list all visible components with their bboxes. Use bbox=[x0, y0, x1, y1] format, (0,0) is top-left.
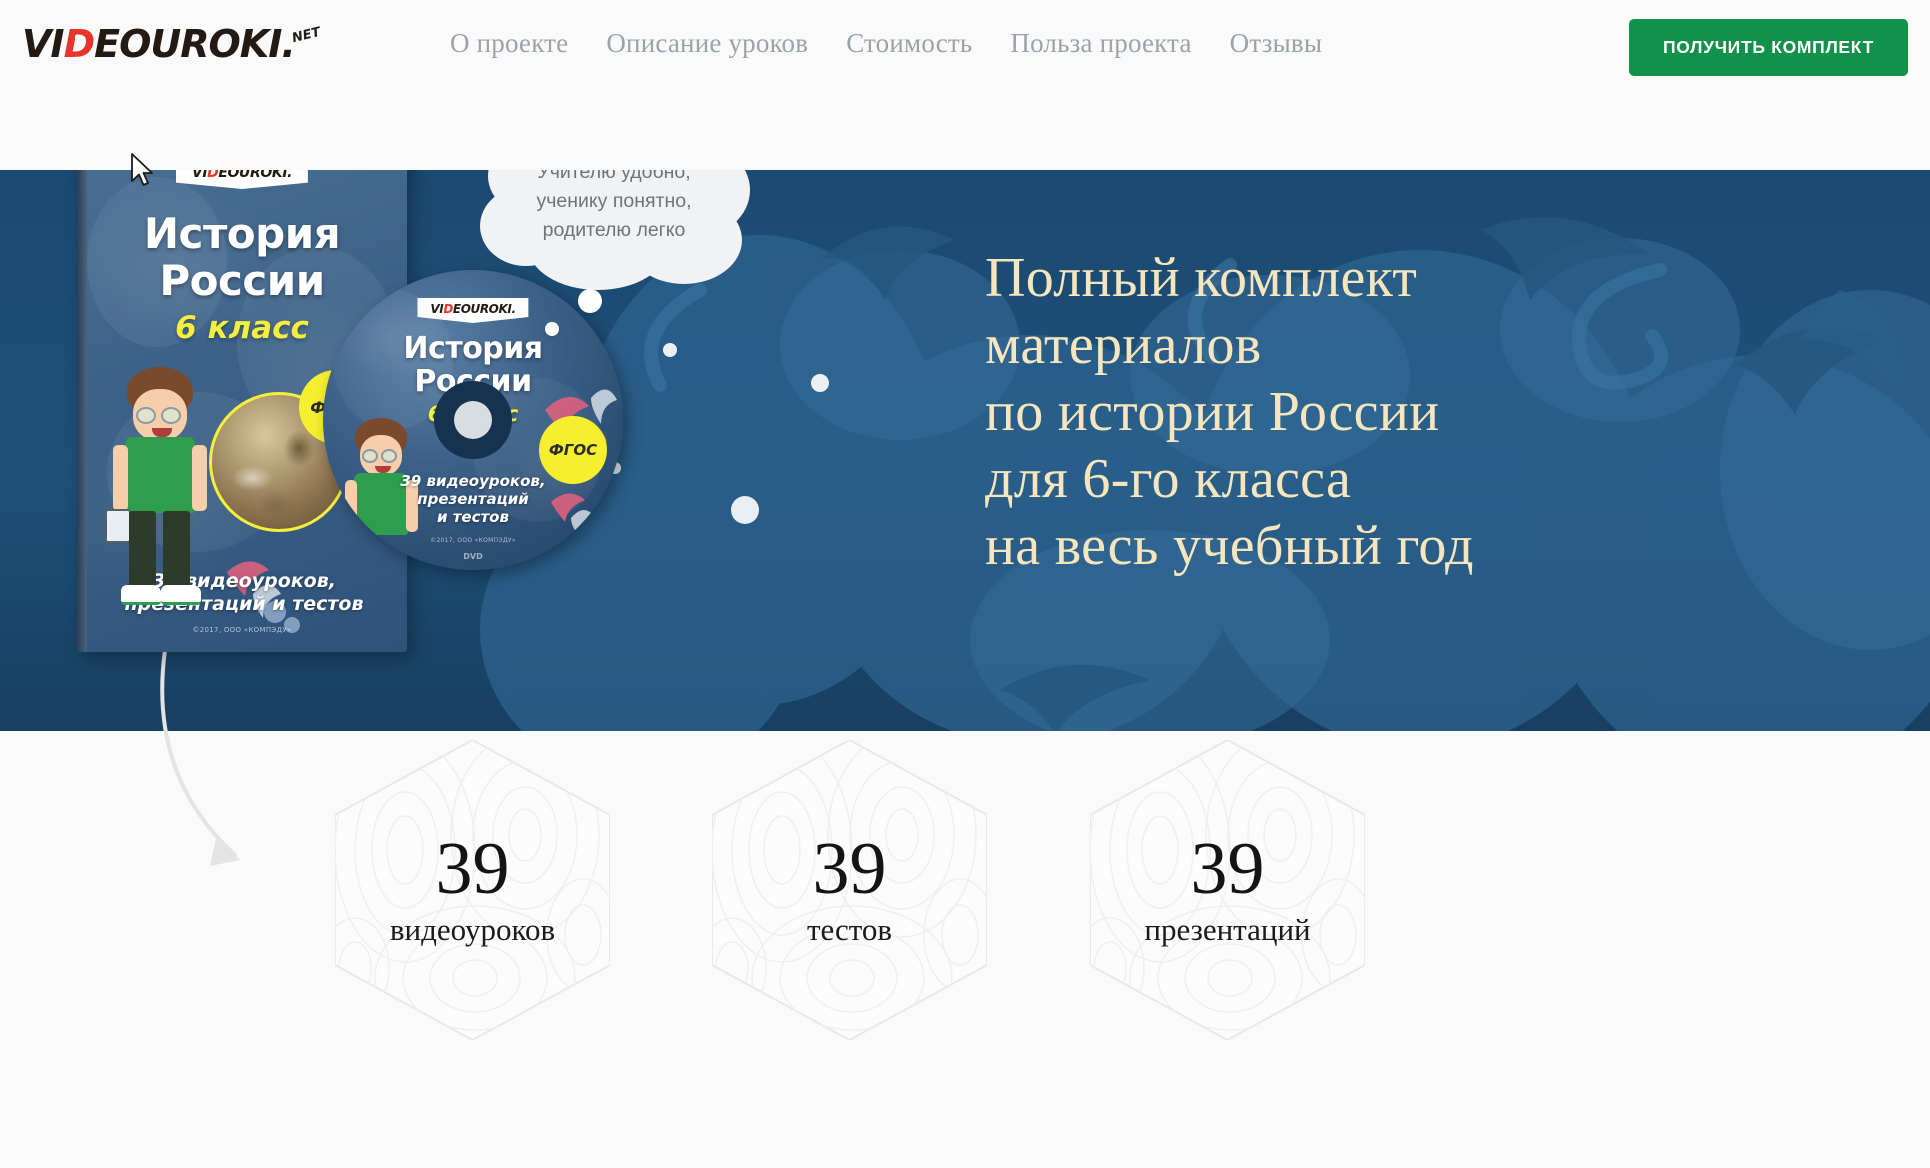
logo-text-part2: EOUROKI. bbox=[94, 22, 295, 66]
hero-headline: Полный комплект материалов по истории Ро… bbox=[985, 245, 1705, 580]
boy-shoe-left bbox=[121, 585, 161, 605]
boy-pants-left bbox=[129, 511, 156, 589]
logo-text-part1: VI bbox=[22, 22, 64, 66]
stat-hexagon-lessons: 39 видеоуроков bbox=[335, 740, 610, 1040]
headline-line-5: на весь учебный год bbox=[985, 513, 1705, 580]
nav-item-price[interactable]: Стоимость bbox=[846, 28, 972, 59]
disc-title-line1: История bbox=[323, 332, 623, 365]
stat-label-lessons: видеоуроков bbox=[390, 912, 555, 948]
disc-boy-glasses-right bbox=[381, 449, 397, 463]
disc-caption-line2: презентаций bbox=[343, 490, 603, 508]
stat-number-lessons: 39 bbox=[436, 832, 510, 906]
boy-glasses-left bbox=[136, 407, 156, 424]
boy-pants-right bbox=[163, 511, 190, 589]
bubble-line-2: ученику понятно, bbox=[478, 187, 750, 216]
logo-text-net: NET bbox=[290, 25, 321, 46]
stat-hexagon-tests: 39 тестов bbox=[712, 740, 987, 1040]
box-copyright: ©2017, ООО «КОМПЭДУ» bbox=[77, 626, 407, 634]
boy-arm-right bbox=[192, 445, 207, 511]
landing-page: VIDEOUROKI.NET О проекте Описание уроков… bbox=[0, 0, 1930, 1168]
site-logo[interactable]: VIDEOUROKI.NET bbox=[22, 22, 320, 66]
box-boy-character bbox=[105, 367, 215, 622]
disc-copyright: ©2017, ООО «КОМПЭДУ» bbox=[323, 537, 623, 544]
stat-hexagon-presentations: 39 презентаций bbox=[1090, 740, 1365, 1040]
disc-format-label: DVD bbox=[323, 552, 623, 561]
headline-line-4: для 6-го класса bbox=[985, 446, 1705, 513]
disc-center-hole bbox=[454, 401, 492, 439]
site-header: VIDEOUROKI.NET О проекте Описание уроков… bbox=[0, 0, 1930, 170]
headline-line-3: по истории России bbox=[985, 379, 1705, 446]
headline-line-1: Полный комплект bbox=[985, 245, 1705, 312]
nav-item-lessons[interactable]: Описание уроков bbox=[606, 28, 808, 59]
disc-caption-line3: и тестов bbox=[343, 508, 603, 526]
nav-item-benefits[interactable]: Польза проекта bbox=[1010, 28, 1191, 59]
stat-label-presentations: презентаций bbox=[1144, 912, 1310, 948]
disc-fgos-badge: ФГОС bbox=[539, 416, 607, 484]
boy-tablet bbox=[105, 509, 131, 543]
speech-bubble-text: Учителю удобно, ученику понятно, родител… bbox=[478, 158, 750, 245]
boy-shirt bbox=[125, 437, 195, 513]
boy-glasses-right bbox=[161, 407, 181, 424]
get-kit-button[interactable]: ПОЛУЧИТЬ КОМПЛЕКТ bbox=[1629, 19, 1908, 76]
stats-row: 39 видеоуроков 39 bbox=[0, 740, 1930, 1040]
bubble-tail-dot-small bbox=[545, 322, 559, 336]
main-navigation: О проекте Описание уроков Стоимость Поль… bbox=[450, 28, 1322, 59]
box-title-line1: История bbox=[77, 210, 407, 257]
bubble-line-3: родителю легко bbox=[478, 216, 750, 245]
dvd-disc: VIDEOUROKI. История России 6 класс ФГОС bbox=[323, 270, 623, 570]
boy-shoe-right bbox=[161, 585, 201, 605]
nav-item-about[interactable]: О проекте bbox=[450, 28, 568, 59]
headline-line-2: материалов bbox=[985, 312, 1705, 379]
stat-label-tests: тестов bbox=[807, 912, 892, 948]
logo-letter-d: D bbox=[64, 22, 95, 66]
play-triangle-icon bbox=[75, 35, 86, 49]
nav-item-reviews[interactable]: Отзывы bbox=[1230, 28, 1323, 59]
mouse-cursor-icon bbox=[130, 152, 156, 190]
stat-number-presentations: 39 bbox=[1191, 832, 1265, 906]
disc-boy-glasses-left bbox=[362, 449, 378, 463]
stat-number-tests: 39 bbox=[813, 832, 887, 906]
boy-arm-left bbox=[113, 445, 128, 511]
